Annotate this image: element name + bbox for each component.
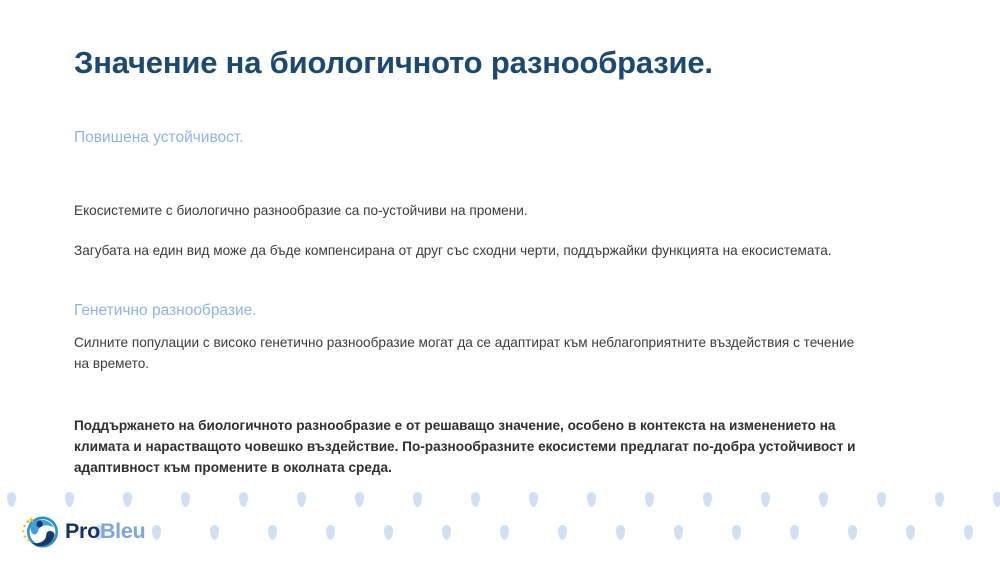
droplet-icon	[790, 525, 799, 540]
droplet-icon	[587, 492, 596, 507]
droplet-icon	[906, 525, 915, 540]
paragraph-resilience-2: Загубата на един вид може да бъде компен…	[74, 241, 864, 262]
droplet-icon	[65, 492, 74, 507]
droplet-icon	[239, 492, 248, 507]
droplet-icon	[181, 492, 190, 507]
droplet-icon	[732, 525, 741, 540]
droplet-icon	[500, 525, 509, 540]
logo-word-pro: Pro	[65, 519, 100, 543]
droplet-icon	[413, 492, 422, 507]
footer-band: ProBleu	[0, 480, 1000, 563]
spacer	[74, 261, 864, 301]
droplet-icon	[529, 492, 538, 507]
droplet-icon	[877, 492, 886, 507]
droplet-icon	[326, 525, 335, 540]
section-heading-genetic-diversity: Генетично разнообразие.	[74, 301, 864, 322]
spacer	[74, 222, 864, 241]
spacer	[74, 374, 864, 416]
paragraph-conclusion: Поддържането на биологичното разнообрази…	[74, 416, 864, 478]
droplet-icon	[848, 525, 857, 540]
probleu-logo: ProBleu	[20, 513, 145, 551]
section-heading-resilience: Повишена устойчивост.	[74, 128, 864, 149]
slide-body: Повишена устойчивост. Екосистемите с био…	[74, 128, 864, 478]
droplet-icon	[442, 525, 451, 540]
probleu-wordmark: ProBleu	[65, 521, 145, 543]
droplet-icon	[123, 492, 132, 507]
droplet-icon	[152, 525, 161, 540]
droplet-icon	[703, 492, 712, 507]
droplet-icon	[471, 492, 480, 507]
slide-canvas: Значение на биологичното разнообразие. П…	[0, 0, 1000, 563]
droplet-icon	[645, 492, 654, 507]
spacer	[74, 322, 864, 333]
droplet-icon	[964, 525, 973, 540]
droplet-icon	[268, 525, 277, 540]
spacer	[74, 149, 864, 201]
droplet-icon	[761, 492, 770, 507]
droplet-icon	[935, 492, 944, 507]
droplet-icon	[819, 492, 828, 507]
probleu-globe-icon	[20, 513, 58, 551]
droplet-icon	[384, 525, 393, 540]
page-title: Значение на биологичното разнообразие.	[74, 44, 944, 81]
paragraph-resilience-1: Екосистемите с биологично разнообразие с…	[74, 201, 864, 222]
droplet-icon	[674, 525, 683, 540]
droplet-icon	[355, 492, 364, 507]
droplet-icon	[297, 492, 306, 507]
droplet-icon	[558, 525, 567, 540]
logo-word-bleu: Bleu	[100, 519, 145, 543]
droplet-icon	[210, 525, 219, 540]
droplet-icon	[7, 492, 16, 507]
droplet-icon	[993, 492, 1000, 507]
paragraph-genetic-diversity-1: Силните популации с високо генетично раз…	[74, 333, 864, 374]
droplet-icon	[616, 525, 625, 540]
